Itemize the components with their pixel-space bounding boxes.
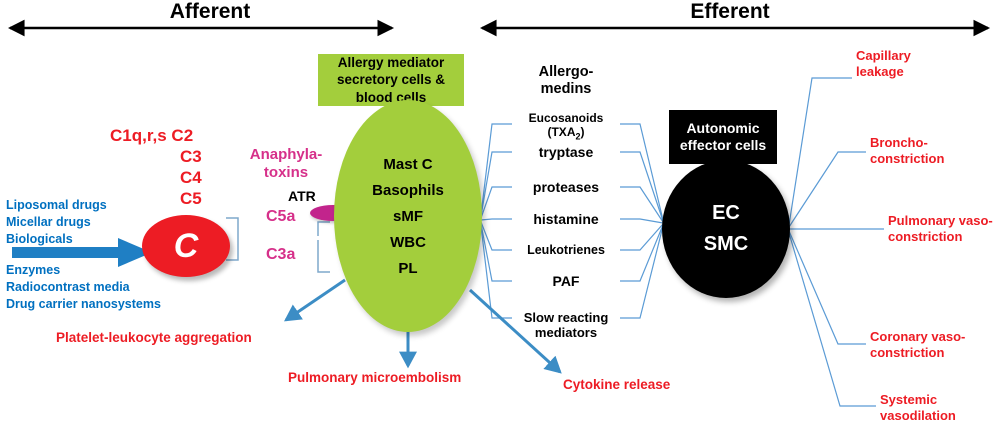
- complement-line-4: C5: [180, 189, 202, 210]
- allergomedins-title: Allergo- medins: [519, 64, 613, 99]
- c5a-label: C5a: [266, 208, 295, 227]
- outcome-coronary-vasoconstriction: Coronary vaso- constriction: [870, 329, 998, 362]
- efferent-label: Efferent: [660, 0, 800, 25]
- outcome-platelet-leukocyte-aggregation: Platelet-leukocyte aggregation: [56, 330, 252, 345]
- complement-node: C: [142, 215, 230, 277]
- connector-layer: [0, 0, 998, 428]
- diagram-canvas: Afferent Efferent Liposomal drugs Micell…: [0, 0, 998, 428]
- mediator-histamine: histamine: [505, 211, 627, 228]
- mediator-slow-reacting: Slow reacting mediators: [503, 310, 629, 341]
- mediator-eucosanoids-label: Eucosanoids: [529, 111, 604, 125]
- autonomic-effector-box: Autonomic effector cells: [669, 110, 777, 164]
- c3a-label: C3a: [266, 246, 295, 265]
- trigger-list-upper: Liposomal drugs Micellar drugs Biologica…: [6, 197, 107, 248]
- complement-line-3: C4: [180, 168, 202, 189]
- cell-type-wbc: WBC: [390, 234, 426, 251]
- effector-smc: SMC: [704, 233, 748, 256]
- mediator-eucosanoids-formula: (TXA2): [547, 125, 584, 139]
- atr-label: ATR: [288, 188, 316, 205]
- outcome-bronchoconstriction: Broncho- constriction: [870, 135, 998, 168]
- anaphylatoxin-stems: [318, 222, 330, 272]
- mediator-leukotrienes: Leukotrienes: [505, 243, 627, 258]
- mediator-proteases: proteases: [505, 179, 627, 196]
- outcome-capillary-leakage: Capillary leakage: [856, 48, 986, 81]
- outcome-pulmonary-vasoconstriction: Pulmonary vaso- constriction: [888, 213, 998, 246]
- mediator-tryptase: tryptase: [505, 144, 627, 161]
- mediator-paf: PAF: [505, 273, 627, 290]
- complement-line-1: C1q,r,s C2: [110, 126, 193, 147]
- outcome-cytokine-release: Cytokine release: [563, 377, 670, 392]
- trigger-list-lower: Enzymes Radiocontrast media Drug carrier…: [6, 262, 161, 313]
- cell-type-basophils: Basophils: [372, 182, 444, 199]
- complement-line-2: C3: [180, 147, 202, 168]
- cell-type-smf: sMF: [393, 208, 423, 225]
- effector-ec: EC: [712, 202, 740, 225]
- allergy-mediator-box: Allergy mediator secretory cells & blood…: [318, 54, 464, 106]
- outcome-systemic-vasodilation: Systemic vasodilation: [880, 392, 998, 425]
- autonomic-effector-node: EC SMC: [662, 160, 790, 298]
- allergy-mediator-cells-node: Mast C Basophils sMF WBC PL: [334, 100, 482, 332]
- mediator-eucosanoids: Eucosanoids (TXA2): [505, 111, 627, 142]
- outcome-pulmonary-microembolism: Pulmonary microembolism: [288, 370, 461, 385]
- cell-type-mast-c: Mast C: [383, 156, 432, 173]
- anaphylatoxins-title: Anaphyla- toxins: [248, 146, 324, 182]
- cell-type-pl: PL: [398, 260, 417, 277]
- afferent-label: Afferent: [140, 0, 280, 25]
